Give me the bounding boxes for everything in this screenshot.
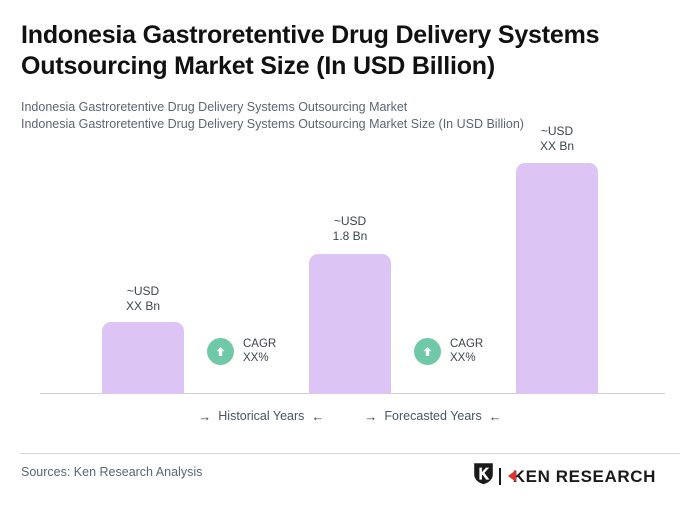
bar-value-label-1: ~USDXX Bn — [102, 284, 184, 313]
legend-label-forecasted-years: Forecasted Years — [384, 409, 481, 423]
arrow-up-icon — [207, 338, 234, 365]
bar-forecast[interactable] — [516, 163, 598, 394]
bar-value-label-3: ~USDXX Bn — [516, 124, 598, 153]
bar-historical[interactable] — [102, 322, 184, 394]
arrow-up-icon — [414, 338, 441, 365]
bar-value-label-2: ~USD1.8 Bn — [309, 214, 391, 243]
arrow-right-icon: → — [364, 410, 377, 423]
legend-label-historical-years: Historical Years — [218, 409, 304, 423]
shield-k-icon — [473, 462, 494, 490]
bar-mid[interactable] — [309, 254, 391, 394]
cagr-badge-1-text: CAGRXX% — [243, 337, 276, 365]
footer-divider — [20, 453, 680, 454]
logo-divider-bar — [499, 468, 501, 485]
bar-chart-plot-area: ~USDXX Bn CAGRXX% ~USD1.8 Bn CAGRXX% ~US… — [0, 0, 700, 400]
cagr-badge-2[interactable]: CAGRXX% — [414, 337, 483, 365]
cagr-badge-1[interactable]: CAGRXX% — [207, 337, 276, 365]
legend-item-historical-years: → Historical Years ← — [198, 409, 324, 423]
brand-wordmark: KEN RESEARCH — [513, 468, 656, 485]
cagr-badge-2-text: CAGRXX% — [450, 337, 483, 365]
arrow-left-icon: ← — [489, 410, 502, 423]
arrow-right-icon: → — [198, 410, 211, 423]
logo-accent-triangle — [508, 470, 516, 482]
arrow-left-icon: ← — [311, 410, 324, 423]
legend-item-forecasted-years: → Forecasted Years ← — [364, 409, 501, 423]
ken-research-logo: KEN RESEARCH — [473, 462, 656, 490]
sources-text: Sources: Ken Research Analysis — [21, 465, 202, 479]
axis-period-legend: → Historical Years ← → Forecasted Years … — [0, 409, 700, 423]
